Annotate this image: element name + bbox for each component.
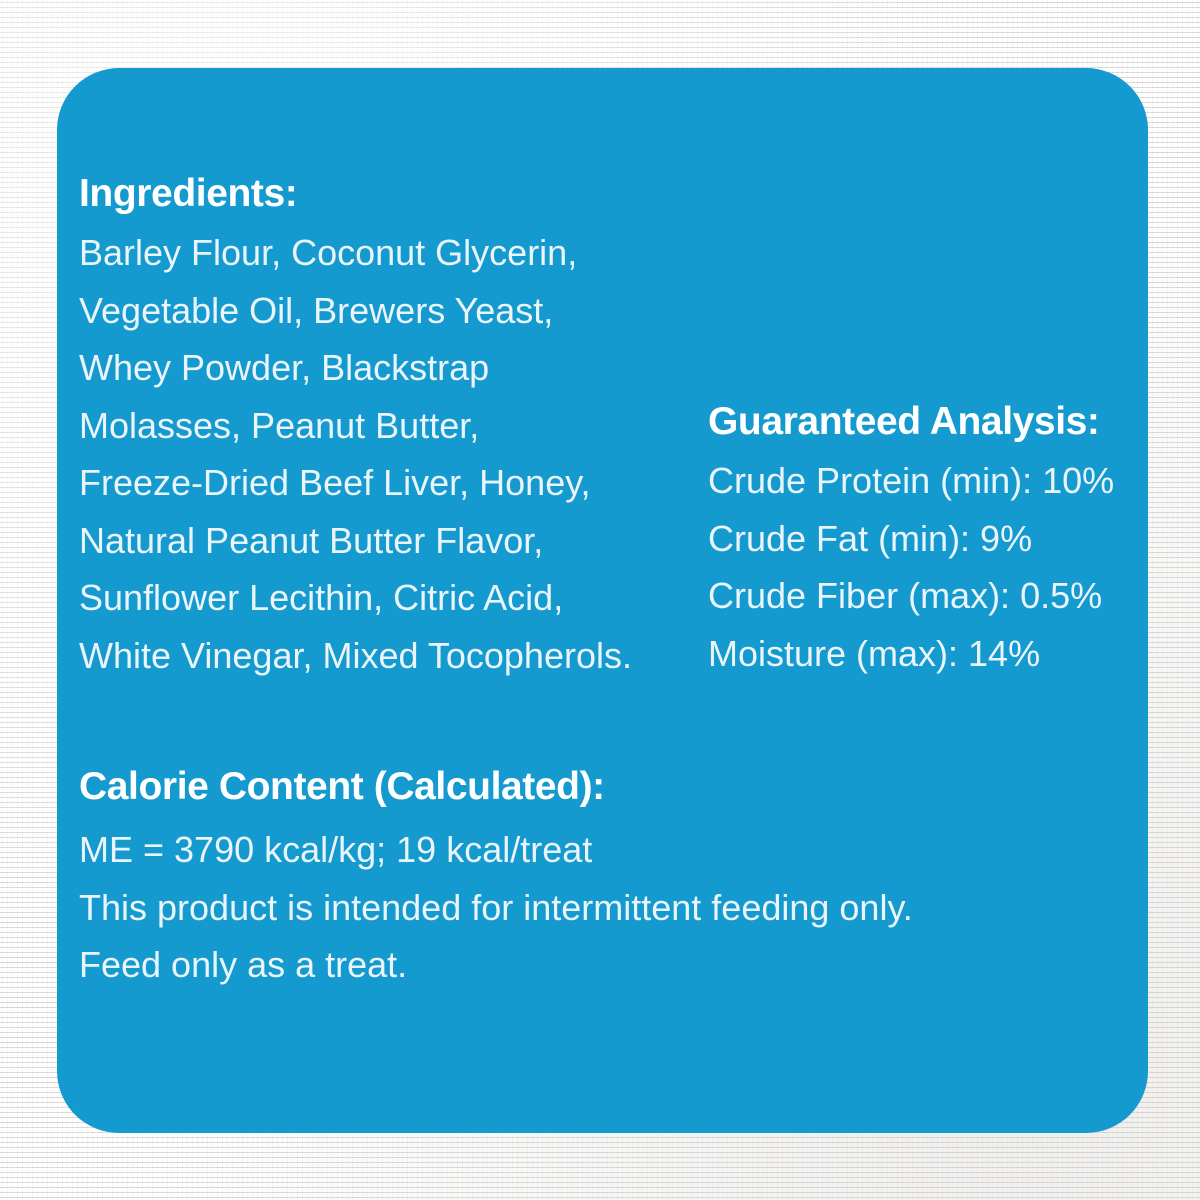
calorie-content-heading: Calorie Content (Calculated):	[79, 765, 1079, 809]
ingredients-line: Vegetable Oil, Brewers Yeast,	[79, 282, 719, 340]
analysis-row: Crude Fiber (max): 0.5%	[708, 567, 1148, 625]
ingredients-heading: Ingredients:	[79, 172, 719, 216]
ingredients-section: Ingredients: Barley Flour, Coconut Glyce…	[79, 172, 719, 684]
ingredients-line: Molasses, Peanut Butter,	[79, 397, 719, 455]
ingredients-line: Freeze-Dried Beef Liver, Honey,	[79, 454, 719, 512]
nutrition-info-card: Ingredients: Barley Flour, Coconut Glyce…	[57, 68, 1148, 1133]
ingredients-line: Whey Powder, Blackstrap	[79, 339, 719, 397]
analysis-row: Moisture (max): 14%	[708, 625, 1148, 683]
analysis-row: Crude Protein (min): 10%	[708, 452, 1148, 510]
calorie-content-section: Calorie Content (Calculated): ME = 3790 …	[79, 765, 1079, 994]
calorie-line: ME = 3790 kcal/kg; 19 kcal/treat	[79, 821, 1079, 879]
guaranteed-analysis-section: Guaranteed Analysis: Crude Protein (min)…	[708, 400, 1148, 682]
analysis-row: Crude Fat (min): 9%	[708, 510, 1148, 568]
calorie-line: This product is intended for intermitten…	[79, 879, 1079, 937]
ingredients-line: Barley Flour, Coconut Glycerin,	[79, 224, 719, 282]
calorie-line: Feed only as a treat.	[79, 936, 1079, 994]
ingredients-line: Sunflower Lecithin, Citric Acid,	[79, 569, 719, 627]
ingredients-line: Natural Peanut Butter Flavor,	[79, 512, 719, 570]
guaranteed-analysis-heading: Guaranteed Analysis:	[708, 400, 1148, 444]
ingredients-line: White Vinegar, Mixed Tocopherols.	[79, 627, 719, 685]
